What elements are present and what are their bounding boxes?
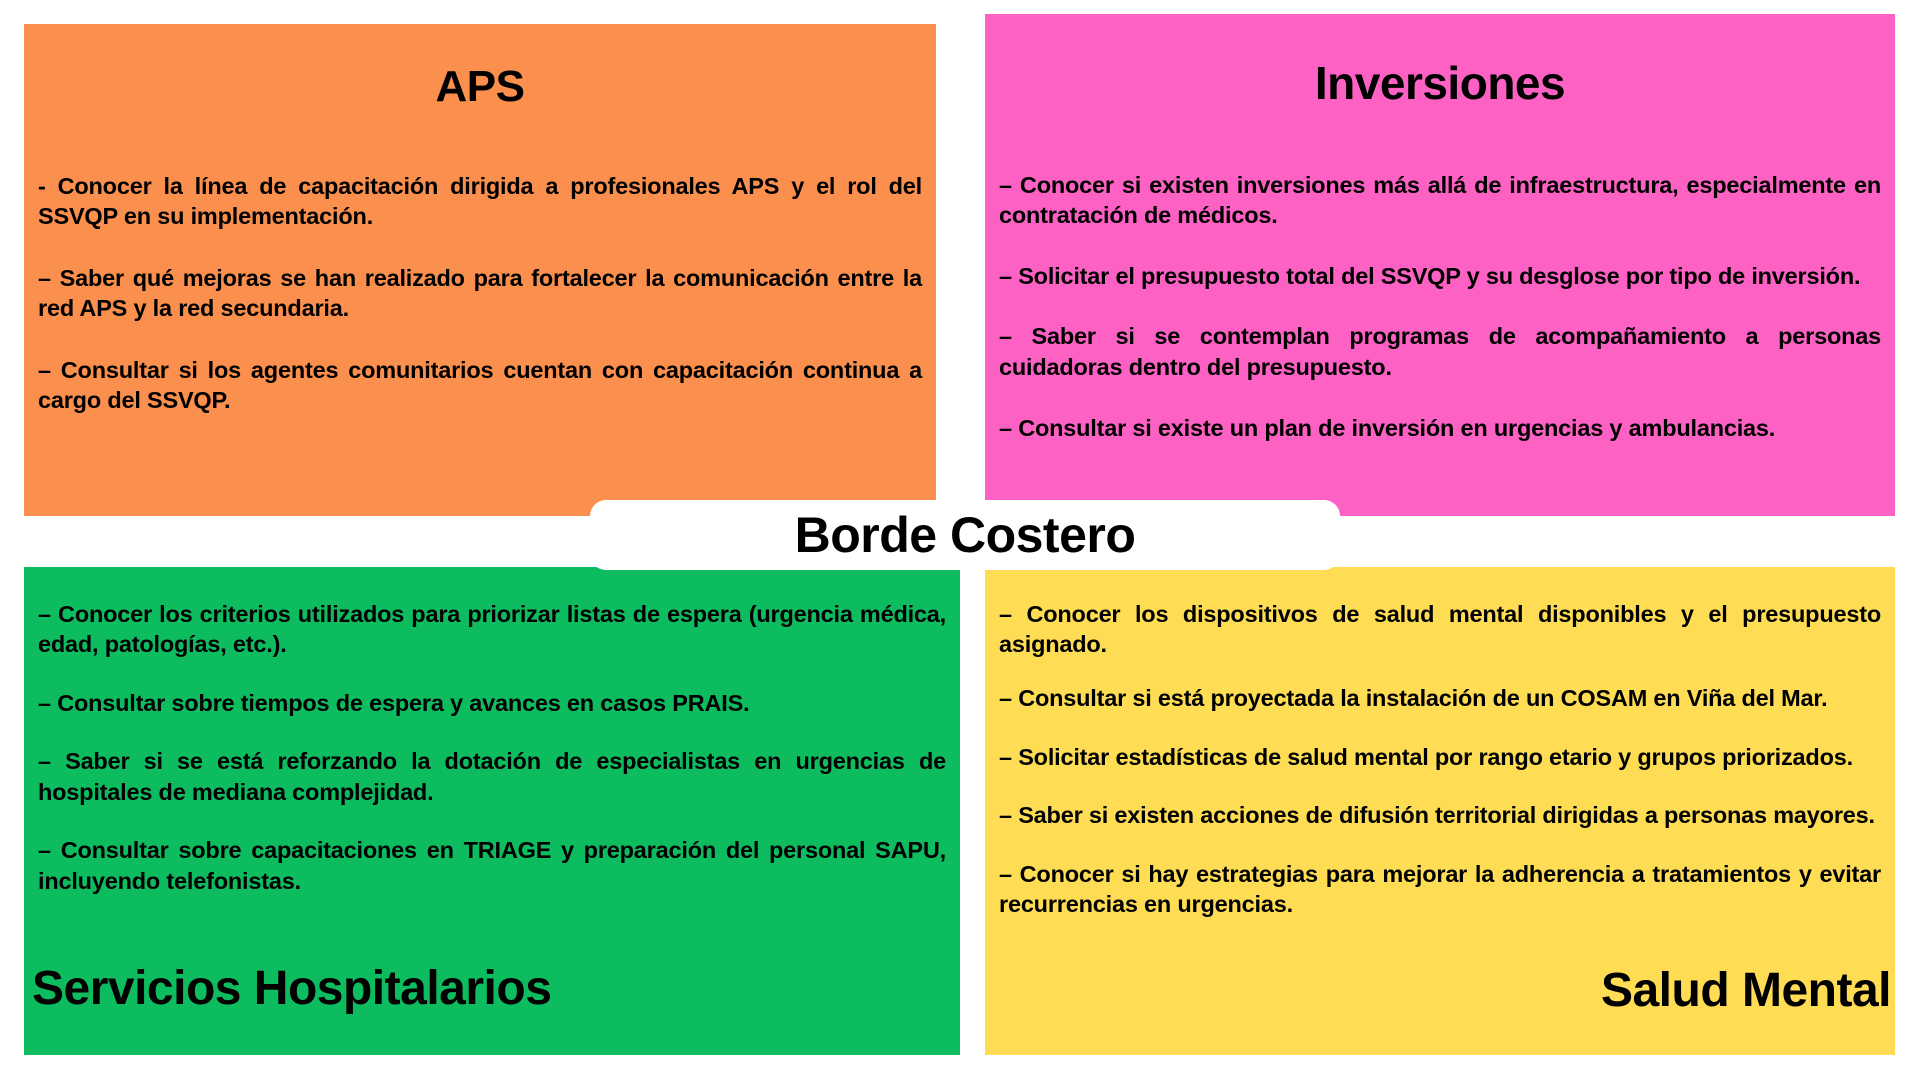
- list-item: – Conocer si existen inversiones más all…: [999, 170, 1881, 231]
- center-badge: Borde Costero: [590, 500, 1340, 570]
- list-item: – Solicitar el presupuesto total del SSV…: [999, 261, 1881, 292]
- list-item: – Consultar si existe un plan de inversi…: [999, 413, 1881, 444]
- list-item: – Solicitar estadísticas de salud mental…: [999, 742, 1881, 773]
- panel-salud-mental: – Conocer los dispositivos de salud ment…: [985, 567, 1895, 1055]
- list-item: – Consultar si los agentes comunitarios …: [38, 355, 922, 416]
- panel-servicios-title: Servicios Hospitalarios: [32, 965, 551, 1013]
- panel-inversiones: Inversiones – Conocer si existen inversi…: [985, 14, 1895, 516]
- quadrant-board: APS - Conocer la línea de capacitación d…: [0, 0, 1920, 1080]
- panel-salud-content: – Conocer los dispositivos de salud ment…: [985, 567, 1895, 1055]
- list-item: – Conocer los criterios utilizados para …: [38, 599, 946, 660]
- list-item: – Consultar sobre tiempos de espera y av…: [38, 688, 946, 719]
- list-item: - Conocer la línea de capacitación dirig…: [38, 171, 922, 232]
- panel-servicios-bullet-list: – Conocer los criterios utilizados para …: [24, 567, 960, 896]
- list-item: – Conocer los dispositivos de salud ment…: [999, 599, 1881, 660]
- panel-servicios-content: – Conocer los criterios utilizados para …: [24, 567, 960, 1055]
- panel-salud-title: Salud Mental: [1601, 967, 1891, 1015]
- panel-aps-bullet-list: - Conocer la línea de capacitación dirig…: [24, 145, 936, 416]
- panel-inversiones-content: Inversiones – Conocer si existen inversi…: [985, 14, 1895, 516]
- list-item: – Conocer si hay estrategias para mejora…: [999, 859, 1881, 920]
- panel-inversiones-title: Inversiones: [985, 52, 1895, 106]
- list-item: – Consultar sobre capacitaciones en TRIA…: [38, 835, 946, 896]
- list-item: – Saber qué mejoras se han realizado par…: [38, 263, 922, 324]
- panel-aps: APS - Conocer la línea de capacitación d…: [24, 24, 936, 516]
- list-item: – Saber si se contemplan programas de ac…: [999, 321, 1881, 382]
- center-badge-label: Borde Costero: [795, 510, 1136, 560]
- list-item: – Saber si se está reforzando la dotació…: [38, 746, 946, 807]
- list-item: – Consultar si está proyectada la instal…: [999, 683, 1881, 714]
- panel-aps-title: APS: [24, 61, 936, 109]
- panel-servicios-hospitalarios: – Conocer los criterios utilizados para …: [24, 567, 960, 1055]
- panel-salud-bullet-list: – Conocer los dispositivos de salud ment…: [985, 567, 1895, 920]
- list-item: – Saber si existen acciones de difusión …: [999, 800, 1881, 831]
- panel-inversiones-bullet-list: – Conocer si existen inversiones más all…: [985, 144, 1895, 443]
- panel-aps-content: APS - Conocer la línea de capacitación d…: [24, 24, 936, 516]
